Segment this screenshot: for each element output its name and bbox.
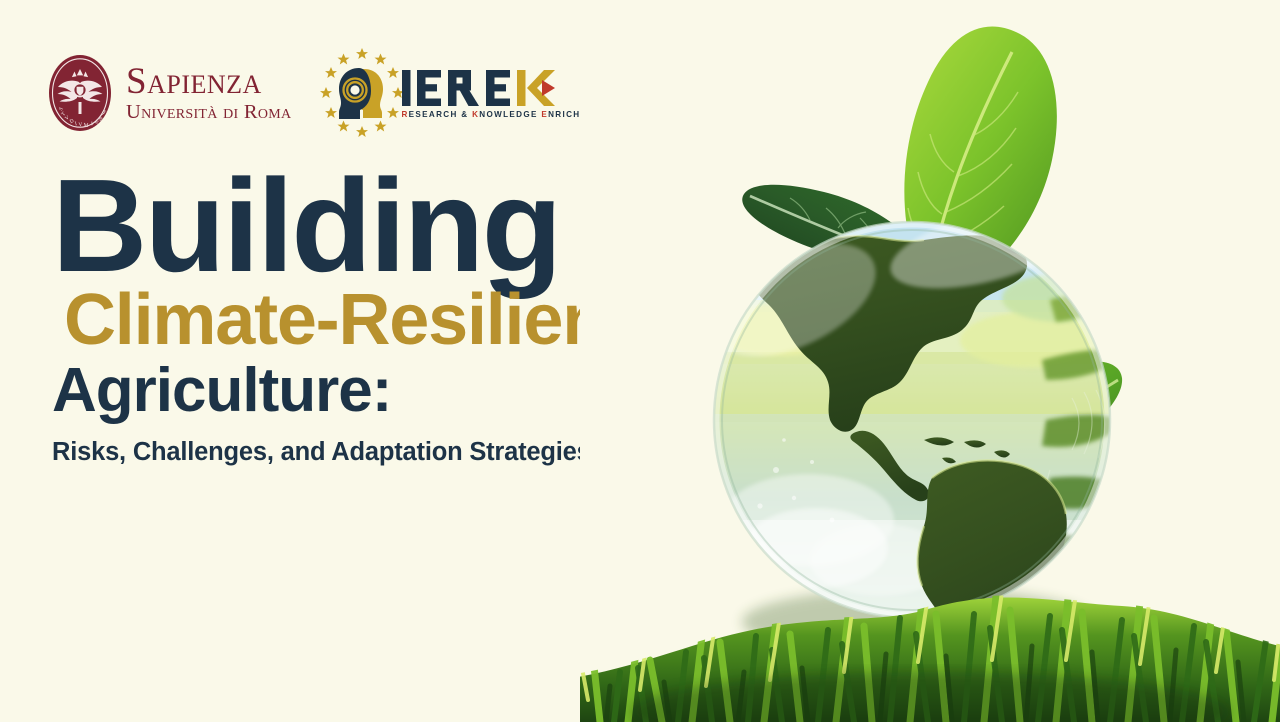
ierek-logo: RESEARCH & KNOWLEDGE ENRICHMENT — [319, 48, 608, 138]
ierek-head-stars-icon — [319, 48, 405, 138]
sapienza-logo: S T V D I V M V R B I S Sapienza Univers… — [48, 54, 291, 132]
headline-line-agriculture: Agriculture: — [52, 360, 628, 422]
headline-block: Building Climate-Resilient Agriculture: … — [52, 163, 628, 467]
sapienza-subtitle: Università di Roma — [126, 102, 291, 123]
logo-bar: S T V D I V M V R B I S Sapienza Univers… — [48, 48, 609, 138]
conference-banner: S T V D I V M V R B I S Sapienza Univers… — [0, 0, 1280, 722]
sapienza-seal-icon: S T V D I V M V R B I S — [48, 54, 112, 132]
headline-line-building: Building — [52, 163, 628, 290]
sapienza-title: Sapienza — [126, 63, 291, 100]
globe-sprout-artwork — [580, 0, 1280, 722]
ierek-wordmark: RESEARCH & KNOWLEDGE ENRICHMENT — [401, 67, 608, 119]
ierek-letterforms-icon — [401, 67, 557, 109]
sapienza-wordmark: Sapienza Università di Roma — [126, 63, 291, 123]
ierek-tagline-esearch: ESEARCH & — [409, 110, 472, 119]
headline-subtitle: Risks, Challenges, and Adaptation Strate… — [52, 438, 628, 467]
ierek-tagline: RESEARCH & KNOWLEDGE ENRICHMENT — [401, 110, 608, 119]
artwork-illustration-icon — [580, 0, 1280, 722]
svg-text:M: M — [83, 122, 89, 129]
headline-line-climate-resilient: Climate-Resilient — [64, 284, 628, 356]
ierek-tagline-nowledge: NOWLEDGE — [479, 110, 541, 119]
ierek-letters — [401, 67, 608, 109]
ierek-tagline-r: R — [401, 110, 408, 119]
